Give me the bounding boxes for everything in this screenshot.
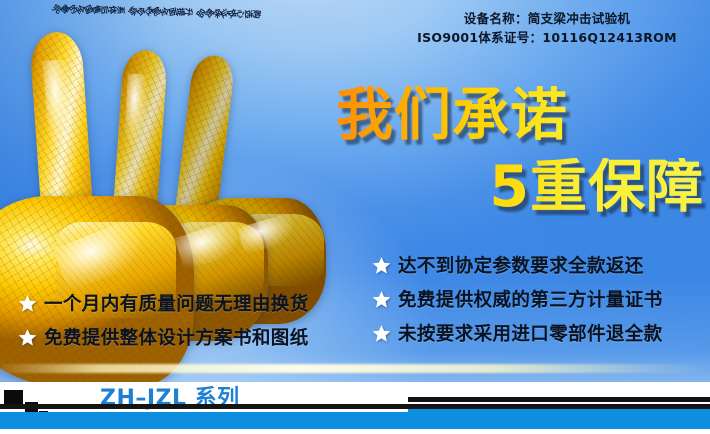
star-icon xyxy=(372,256,391,275)
headline-line-1: 我们承诺 xyxy=(330,86,706,144)
headline-line-2: 5重保障 xyxy=(330,158,706,216)
star-icon xyxy=(18,294,37,313)
promise-list-left: 一个月内有质量问题无理由换货 免费提供整体设计方案书和图纸 xyxy=(18,286,309,354)
promise-text: 免费提供整体设计方案书和图纸 xyxy=(44,324,309,350)
list-item: 免费提供权威的第三方计量证书 xyxy=(372,282,663,316)
bottom-bar-blue xyxy=(0,412,710,429)
list-item: 未按要求采用进口零部件退全款 xyxy=(372,316,663,350)
list-item: 达不到协定参数要求全款返还 xyxy=(372,248,663,282)
star-icon xyxy=(372,324,391,343)
hand-caption-3: 品质保证放心选购 xyxy=(196,10,260,19)
hand-caption-1: 完善的全国售后体系 xyxy=(52,6,124,15)
promise-list-right: 达不到协定参数要求全款返还 免费提供权威的第三方计量证书 未按要求采用进口零部件… xyxy=(372,248,663,350)
equipment-spec-block: 设备名称：简支梁冲击试验机 ISO9001体系证号：10116Q12413ROM xyxy=(388,9,706,47)
headline-block: 我们承诺 5重保障 xyxy=(330,86,706,216)
bottom-bar-black xyxy=(0,404,710,409)
star-icon xyxy=(372,290,391,309)
promise-text: 未按要求采用进口零部件退全款 xyxy=(398,320,663,346)
promise-text: 一个月内有质量问题无理由换货 xyxy=(44,290,309,316)
equipment-name-line: 设备名称：简支梁冲击试验机 xyxy=(388,9,706,28)
hand-caption-2: 综合性能全面提升 xyxy=(128,8,192,17)
footer-rule-black xyxy=(408,397,710,402)
promise-text: 达不到协定参数要求全款返还 xyxy=(398,252,644,278)
promotional-banner: 完善的全国售后体系 综合性能全面提升 品质保证放心选购 设备名称：简支梁冲击试验… xyxy=(0,0,710,434)
iso-certificate-line: ISO9001体系证号：10116Q12413ROM xyxy=(388,28,706,47)
star-icon xyxy=(18,328,37,347)
light-streak-divider xyxy=(0,364,710,373)
list-item: 一个月内有质量问题无理由换货 xyxy=(18,286,309,320)
promise-text: 免费提供权威的第三方计量证书 xyxy=(398,286,663,312)
list-item: 免费提供整体设计方案书和图纸 xyxy=(18,320,309,354)
